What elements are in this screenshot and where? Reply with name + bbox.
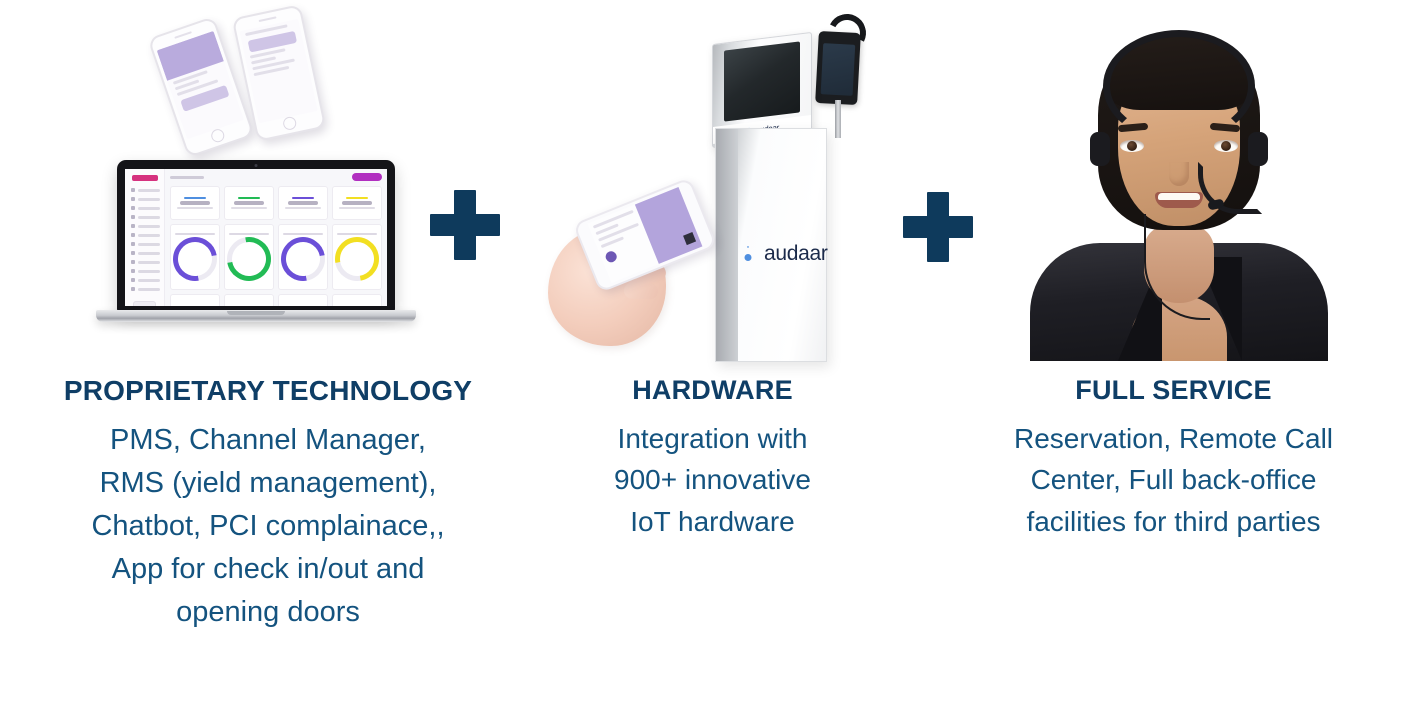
donut-chart (326, 228, 387, 289)
kiosk-illustration: audaar audaar (540, 0, 885, 375)
sidebar-item (131, 188, 160, 192)
column-hardware: audaar audaar (540, 0, 885, 542)
sidebar-item-label (138, 261, 160, 264)
stat-caption (339, 207, 375, 209)
phone-hero-banner (157, 31, 224, 81)
sidebar-item-icon (131, 206, 135, 210)
stat-card (332, 186, 382, 220)
stat-caption (177, 207, 213, 209)
sidebar-item-icon (131, 233, 135, 237)
gauge-caption (229, 233, 269, 235)
sidebar-item-label (138, 207, 160, 210)
dashboard-metric-row (170, 294, 382, 306)
sidebar-item (131, 278, 160, 282)
gauge-card (224, 224, 274, 290)
donut-chart (164, 228, 225, 289)
stat-sparkline (346, 197, 368, 199)
dashboard-stat-row (170, 186, 382, 220)
stat-value (288, 201, 318, 205)
artwork-alt-text: Laptop showing an analytics dashboard wi… (268, 0, 269, 1)
phone-avatar (604, 250, 618, 264)
plus-glyph: + (903, 192, 904, 193)
wifi-arc-icon (738, 248, 758, 261)
plus-glyph: + (430, 190, 431, 191)
gauge-caption (337, 233, 377, 235)
donut-chart (218, 228, 279, 289)
body-line: opening doors (176, 596, 360, 628)
hand-holding-phone (548, 192, 713, 352)
sidebar-item (131, 287, 160, 291)
brand-name: audaar (764, 242, 828, 266)
sidebar-item (131, 215, 160, 219)
donut-chart (272, 228, 333, 289)
tablet-screen (821, 43, 856, 96)
sidebar-item-label (138, 234, 160, 237)
stat-caption (231, 207, 267, 209)
artwork-audaar-kiosk-and-handheld-phone: audaar audaar (540, 0, 885, 375)
column-body-full-service: Reservation, Remote Call Center, Full ba… (930, 418, 1417, 542)
kiosk-touch-screen[interactable] (724, 41, 800, 121)
finger (624, 282, 659, 299)
column-body-proprietary-technology: PMS, Channel Manager, RMS (yield managem… (8, 419, 528, 634)
sidebar-item-label (138, 216, 160, 219)
metric-card (278, 294, 328, 306)
dashboard-logo (132, 175, 158, 181)
metric-card (332, 294, 382, 306)
column-heading-proprietary-technology: PROPRIETARY TECHNOLOGY (8, 375, 528, 407)
agent-eye-right (1214, 140, 1238, 152)
sidebar-item (131, 260, 160, 264)
agent-nose (1169, 162, 1189, 186)
column-heading-full-service: FULL SERVICE (930, 375, 1417, 406)
dashboard-primary-button (352, 173, 382, 181)
sidebar-item-icon (131, 260, 135, 264)
body-line: Center, Full back-office (1031, 464, 1317, 495)
kiosk-brand-logo: audaar (738, 242, 828, 266)
headset-headband (1103, 30, 1255, 142)
plus-sign-1: + (430, 190, 500, 260)
sidebar-item (131, 251, 160, 255)
metric-card (224, 294, 274, 306)
sidebar-item-icon (131, 251, 135, 255)
stat-caption (285, 207, 321, 209)
sidebar-item-icon (131, 287, 135, 291)
body-line: Chatbot, PCI complainace,, (91, 510, 444, 542)
body-line: facilities for third parties (1026, 506, 1320, 537)
laptop-lid (117, 160, 395, 312)
headset-earcup-left (1090, 132, 1110, 166)
sidebar-item (131, 233, 160, 237)
sidebar-item (131, 242, 160, 246)
sidebar-item-icon (131, 197, 135, 201)
body-line: Integration with (618, 423, 808, 454)
phone-pair-illustration (158, 8, 358, 158)
sidebar-item (131, 224, 160, 228)
sidebar-action-button (133, 301, 156, 306)
agent-mouth (1155, 192, 1203, 208)
gauge-caption (283, 233, 323, 235)
sidebar-item-icon (131, 215, 135, 219)
laptop-notch (227, 311, 285, 315)
artwork-laptop-dashboard-and-phones: Laptop showing an analytics dashboard wi… (8, 0, 528, 375)
stat-sparkline (184, 197, 206, 199)
sidebar-item-label (138, 252, 160, 255)
sidebar-item-icon (131, 278, 135, 282)
agent-teeth (1158, 193, 1200, 200)
sidebar-item-icon (131, 188, 135, 192)
sidebar-item (131, 269, 160, 273)
gauge-card (332, 224, 382, 290)
gauge-card (278, 224, 328, 290)
stat-card (224, 186, 274, 220)
webcam-icon (255, 164, 258, 167)
phone-screen (157, 31, 244, 139)
sidebar-item-label (138, 288, 160, 291)
stat-sparkline (238, 197, 260, 199)
laptop-base (96, 310, 416, 322)
kiosk-tablet-device (815, 31, 861, 105)
sidebar-item-icon (131, 269, 135, 273)
sidebar-item-label (138, 270, 160, 273)
stat-value (234, 201, 264, 205)
laptop-screen (125, 169, 387, 306)
wifi-dot (745, 254, 752, 261)
stat-card (278, 186, 328, 220)
slide-root: Laptop showing an analytics dashboard wi… (0, 0, 1425, 706)
column-proprietary-technology: Laptop showing an analytics dashboard wi… (8, 0, 528, 634)
laptop-illustration (96, 160, 416, 335)
gauge-caption (175, 233, 215, 235)
dashboard-toolbar (170, 173, 382, 181)
artwork-call-center-agent-photo: Smiling call center agent wearing a head… (930, 0, 1417, 375)
stat-sparkline (292, 197, 314, 199)
sidebar-item-label (138, 225, 160, 228)
sidebar-item-label (138, 243, 160, 246)
phone-speaker (259, 16, 277, 22)
sidebar-item-label (138, 279, 160, 282)
phone-screen (239, 19, 317, 123)
body-line: PMS, Channel Manager, (110, 424, 426, 456)
sidebar-item-label (138, 189, 160, 192)
column-body-hardware: Integration with 900+ innovative IoT har… (540, 418, 885, 542)
sidebar-item (131, 197, 160, 201)
stat-value (342, 201, 372, 205)
sidebar-item (131, 206, 160, 210)
dashboard-main-panel (165, 169, 387, 306)
dashboard-gauge-row (170, 224, 382, 290)
stat-card (170, 186, 220, 220)
sidebar-item-label (138, 198, 160, 201)
body-line: App for check in/out and (112, 553, 425, 585)
phone-speaker (174, 31, 192, 39)
gauge-card (170, 224, 220, 290)
body-line: RMS (yield management), (100, 467, 437, 499)
headset-earcup-right (1248, 132, 1268, 166)
metric-card (170, 294, 220, 306)
sidebar-item-icon (131, 224, 135, 228)
phone-home-button (282, 116, 297, 131)
body-line: 900+ innovative (614, 464, 811, 495)
tablet-support-pole (835, 100, 841, 138)
agent-eye-left (1120, 140, 1144, 152)
sidebar-item-icon (131, 242, 135, 246)
body-line: IoT hardware (630, 506, 794, 537)
stat-value (180, 201, 210, 205)
kiosk-side-panel (716, 129, 738, 361)
body-line: Reservation, Remote Call (1014, 423, 1333, 454)
agent-portrait (1016, 16, 1342, 361)
column-full-service: Smiling call center agent wearing a head… (930, 0, 1417, 542)
dashboard-page-title (170, 176, 204, 179)
artwork-alt-text: Smiling call center agent wearing a head… (1174, 0, 1175, 1)
dashboard-sidebar (125, 169, 165, 306)
column-heading-hardware: HARDWARE (540, 375, 885, 406)
